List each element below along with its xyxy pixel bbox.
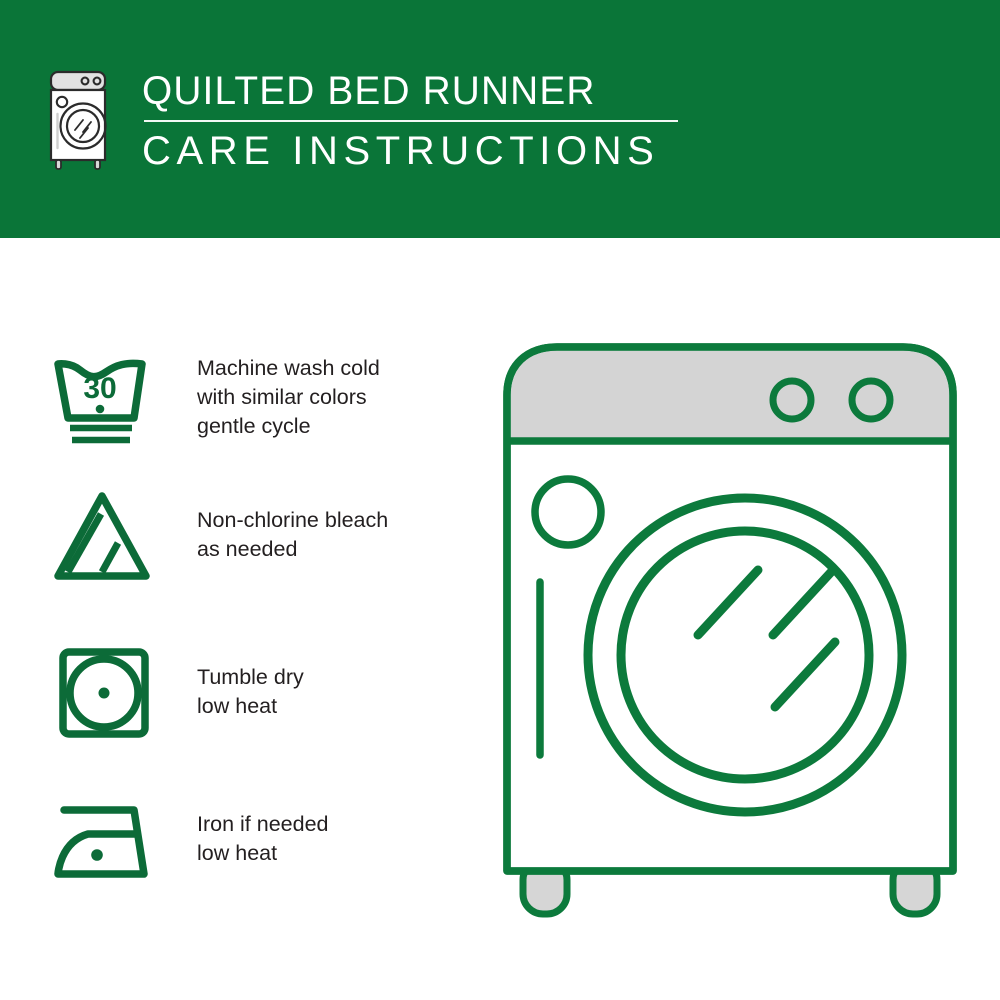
care-row-iron: Iron if needed low heat	[50, 790, 470, 895]
tumble-dry-low-heat-icon	[50, 641, 165, 746]
knob-right	[852, 381, 890, 419]
care-label-line: low heat	[197, 692, 304, 721]
care-label-line: with similar colors	[197, 383, 380, 412]
care-label-iron: Iron if needed low heat	[197, 790, 329, 868]
page-title: QUILTED BED RUNNER	[142, 68, 685, 114]
care-label-line: Non-chlorine bleach	[197, 506, 388, 535]
washing-machine-icon	[45, 66, 117, 174]
care-label-line: gentle cycle	[197, 412, 380, 441]
care-label-line: as needed	[197, 535, 388, 564]
care-row-tumble-dry: Tumble dry low heat	[50, 641, 470, 746]
front-load-washing-machine-illustration	[495, 335, 965, 925]
title-divider	[144, 120, 678, 122]
care-row-machine-wash: 30 Machine wash cold with similar colors…	[50, 348, 470, 453]
svg-text:30: 30	[83, 372, 116, 405]
care-row-bleach: Non-chlorine bleach as needed	[50, 484, 470, 589]
care-label-tumble-dry: Tumble dry low heat	[197, 641, 304, 721]
header-title-block: QUILTED BED RUNNER CARE INSTRUCTIONS	[142, 68, 702, 174]
care-label-machine-wash: Machine wash cold with similar colors ge…	[197, 348, 380, 441]
triangle-non-chlorine-bleach-icon	[50, 484, 165, 589]
iron-low-heat-icon	[50, 790, 165, 895]
knob-left	[773, 381, 811, 419]
care-label-line: Machine wash cold	[197, 354, 380, 383]
care-label-line: Tumble dry	[197, 663, 304, 692]
header-banner: QUILTED BED RUNNER CARE INSTRUCTIONS	[0, 0, 1000, 238]
care-instructions-infographic: QUILTED BED RUNNER CARE INSTRUCTIONS 30 …	[0, 0, 1000, 1000]
care-label-line: Iron if needed	[197, 810, 329, 839]
page-subtitle: CARE INSTRUCTIONS	[142, 128, 702, 174]
care-label-bleach: Non-chlorine bleach as needed	[197, 484, 388, 564]
care-label-line: low heat	[197, 839, 329, 868]
wash-tub-30-gentle-icon: 30	[50, 348, 165, 453]
